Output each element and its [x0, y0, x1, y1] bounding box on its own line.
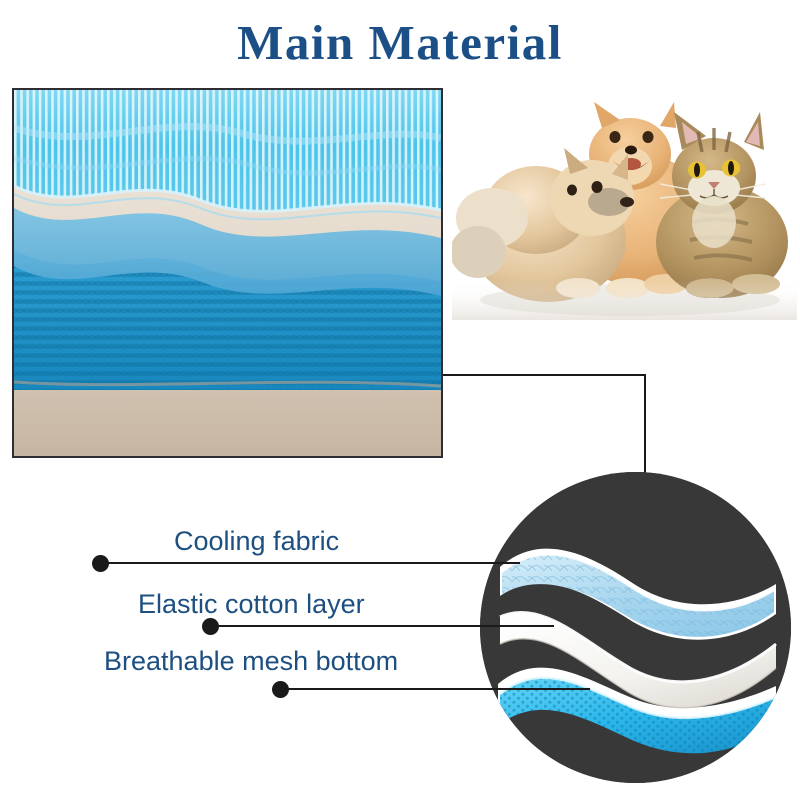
- pets-photo-illustration: [452, 92, 797, 320]
- connector-vertical: [644, 374, 646, 476]
- label-elastic-cotton-layer: Elastic cotton layer: [138, 591, 365, 618]
- leader-line-breathable-mesh-bottom: [284, 688, 590, 690]
- label-breathable-mesh-bottom: Breathable mesh bottom: [104, 648, 398, 675]
- connector-horizontal: [443, 374, 646, 376]
- layer-diagram-illustration: [480, 472, 791, 783]
- mat-photo-illustration: [14, 90, 441, 456]
- leader-line-elastic-cotton-layer: [214, 625, 554, 627]
- infographic-canvas: Main Material: [0, 0, 800, 800]
- cooling-mat-cross-section-photo: [12, 88, 443, 458]
- layer-structure-diagram: [480, 472, 791, 783]
- leader-line-cooling-fabric: [104, 562, 520, 564]
- label-cooling-fabric: Cooling fabric: [174, 528, 339, 555]
- pets-photo: [452, 92, 797, 320]
- page-title: Main Material: [0, 16, 800, 70]
